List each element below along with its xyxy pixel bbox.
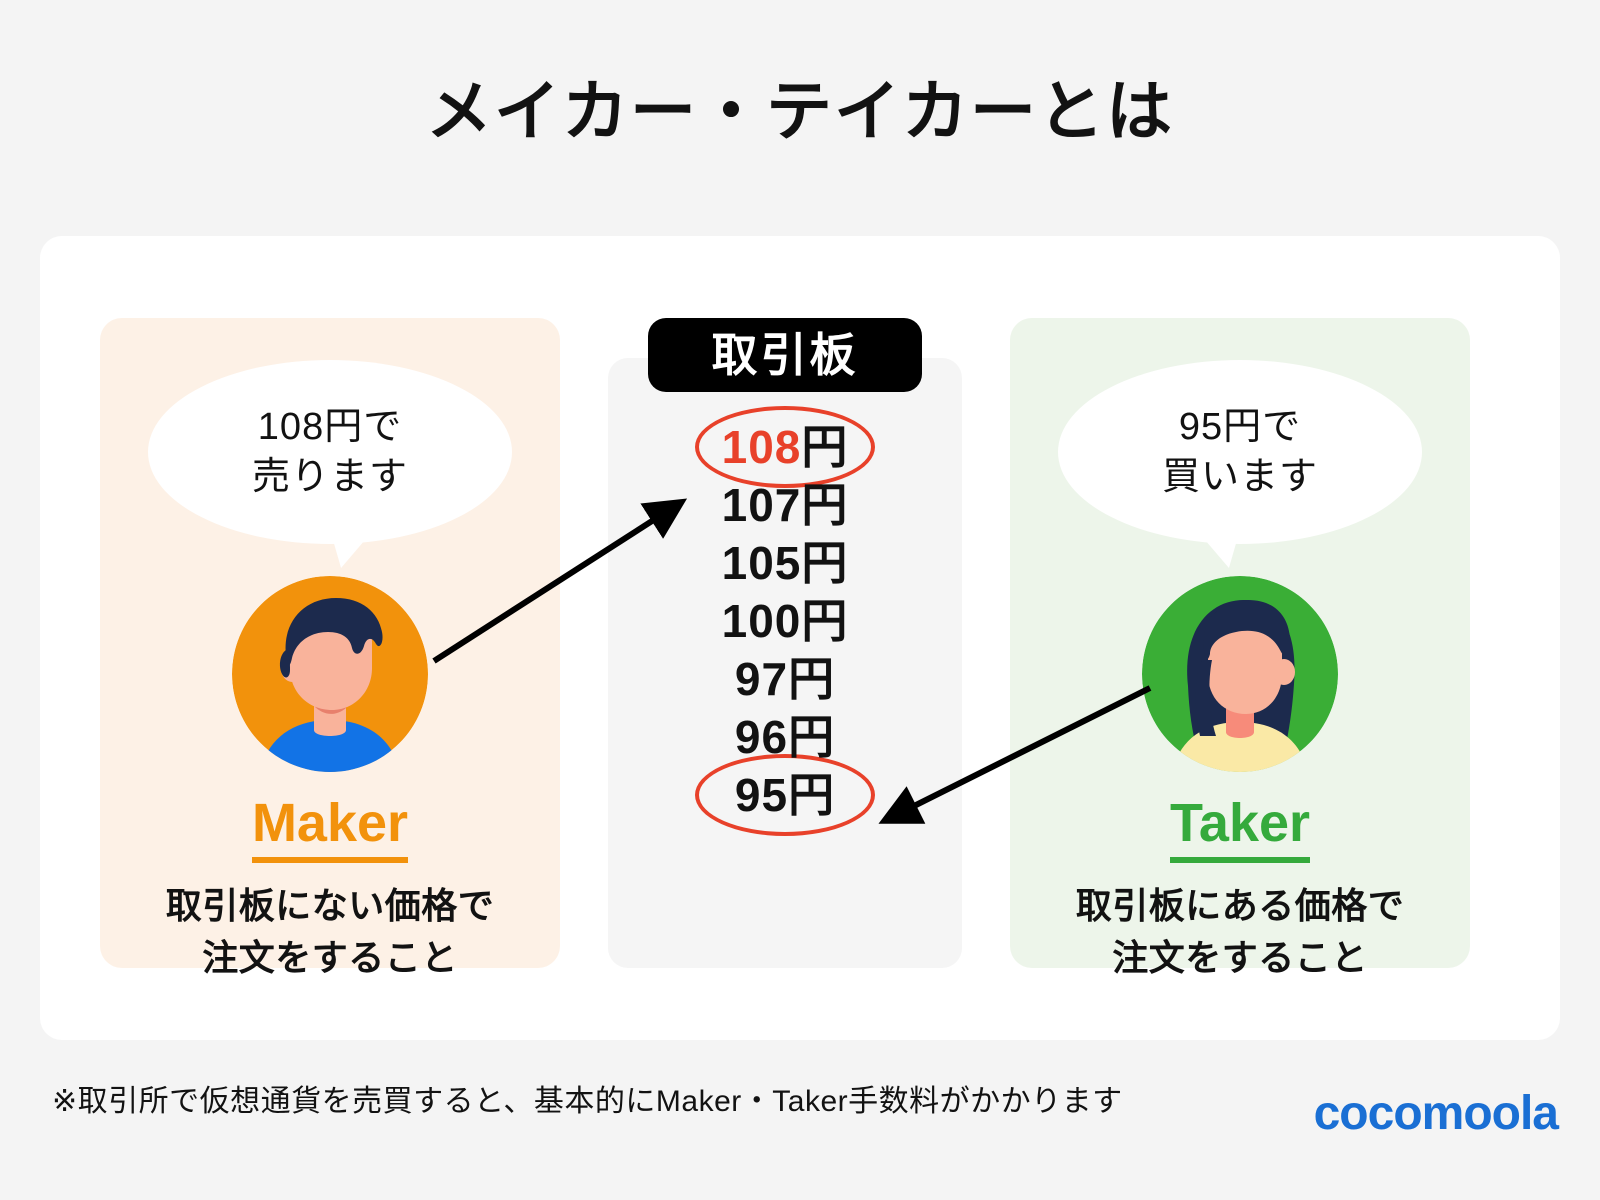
- taker-avatar: [1142, 576, 1338, 772]
- board-price-100-unit: 円: [801, 595, 848, 647]
- taker-bubble-tail: [1193, 526, 1247, 568]
- board-price-97: 97円: [735, 656, 835, 702]
- maker-panel: 108円で 売ります Maker: [100, 318, 560, 968]
- board-price-107-unit: 円: [801, 479, 848, 531]
- taker-speech-bubble: 95円で 買います: [1058, 360, 1422, 544]
- board-price-108-unit: 円: [801, 421, 848, 473]
- board-row-95[interactable]: 95円: [608, 766, 962, 824]
- taker-role-label: Taker: [1010, 796, 1470, 850]
- board-price-100: 100円: [722, 598, 849, 644]
- board-price-96: 96円: [735, 714, 835, 760]
- board-row-97[interactable]: 97円: [608, 650, 962, 708]
- maker-label-text: Maker: [252, 793, 408, 863]
- order-board-rows: 108円 107円 105円 100円 97円 96円 95円: [608, 418, 962, 824]
- board-price-108: 108円: [722, 424, 849, 470]
- taker-desc-line-1: 取引板にある価格で: [1010, 880, 1470, 932]
- board-price-95-value: 95: [735, 769, 788, 821]
- taker-bubble-line-2: 買います: [1162, 452, 1318, 502]
- taker-description: 取引板にある価格で 注文をすること: [1010, 880, 1470, 984]
- board-price-108-value: 108: [722, 421, 802, 473]
- board-price-105: 105円: [722, 540, 849, 586]
- taker-bubble-line-1: 95円で: [1179, 402, 1301, 452]
- board-price-95-unit: 円: [788, 769, 835, 821]
- board-row-108[interactable]: 108円: [608, 418, 962, 476]
- taker-desc-line-2: 注文をすること: [1010, 932, 1470, 984]
- page-title: メイカー・テイカーとは: [0, 78, 1600, 144]
- board-price-96-value: 96: [735, 711, 788, 763]
- board-row-100[interactable]: 100円: [608, 592, 962, 650]
- maker-role-label: Maker: [100, 796, 560, 850]
- cocomoola-logo: cocomoola: [1314, 1090, 1558, 1138]
- maker-desc-line-1: 取引板にない価格で: [100, 880, 560, 932]
- board-price-105-value: 105: [722, 537, 802, 589]
- board-row-105[interactable]: 105円: [608, 534, 962, 592]
- board-price-107: 107円: [722, 482, 849, 528]
- board-price-96-unit: 円: [788, 711, 835, 763]
- main-card: 108円で 売ります Maker: [40, 236, 1560, 1040]
- board-row-96[interactable]: 96円: [608, 708, 962, 766]
- taker-label-text: Taker: [1170, 793, 1310, 863]
- maker-avatar: [232, 576, 428, 772]
- footer-note: ※取引所で仮想通貨を売買すると、基本的にMaker・Taker手数料がかかります: [52, 1084, 1123, 1120]
- board-row-107[interactable]: 107円: [608, 476, 962, 534]
- maker-bubble-tail: [323, 526, 377, 568]
- maker-speech-bubble: 108円で 売ります: [148, 360, 512, 544]
- order-board-header-pill: 取引板: [648, 318, 922, 392]
- order-board-header-text: 取引板: [712, 332, 859, 378]
- board-price-97-value: 97: [735, 653, 788, 705]
- maker-bubble-line-2: 売ります: [252, 452, 408, 502]
- board-price-107-value: 107: [722, 479, 802, 531]
- board-price-105-unit: 円: [801, 537, 848, 589]
- maker-bubble-line-1: 108円で: [258, 402, 402, 452]
- board-price-95: 95円: [735, 772, 835, 818]
- board-price-100-value: 100: [722, 595, 802, 647]
- maker-description: 取引板にない価格で 注文をすること: [100, 880, 560, 984]
- board-price-97-unit: 円: [788, 653, 835, 705]
- maker-desc-line-2: 注文をすること: [100, 932, 560, 984]
- taker-panel: 95円で 買います Ta: [1010, 318, 1470, 968]
